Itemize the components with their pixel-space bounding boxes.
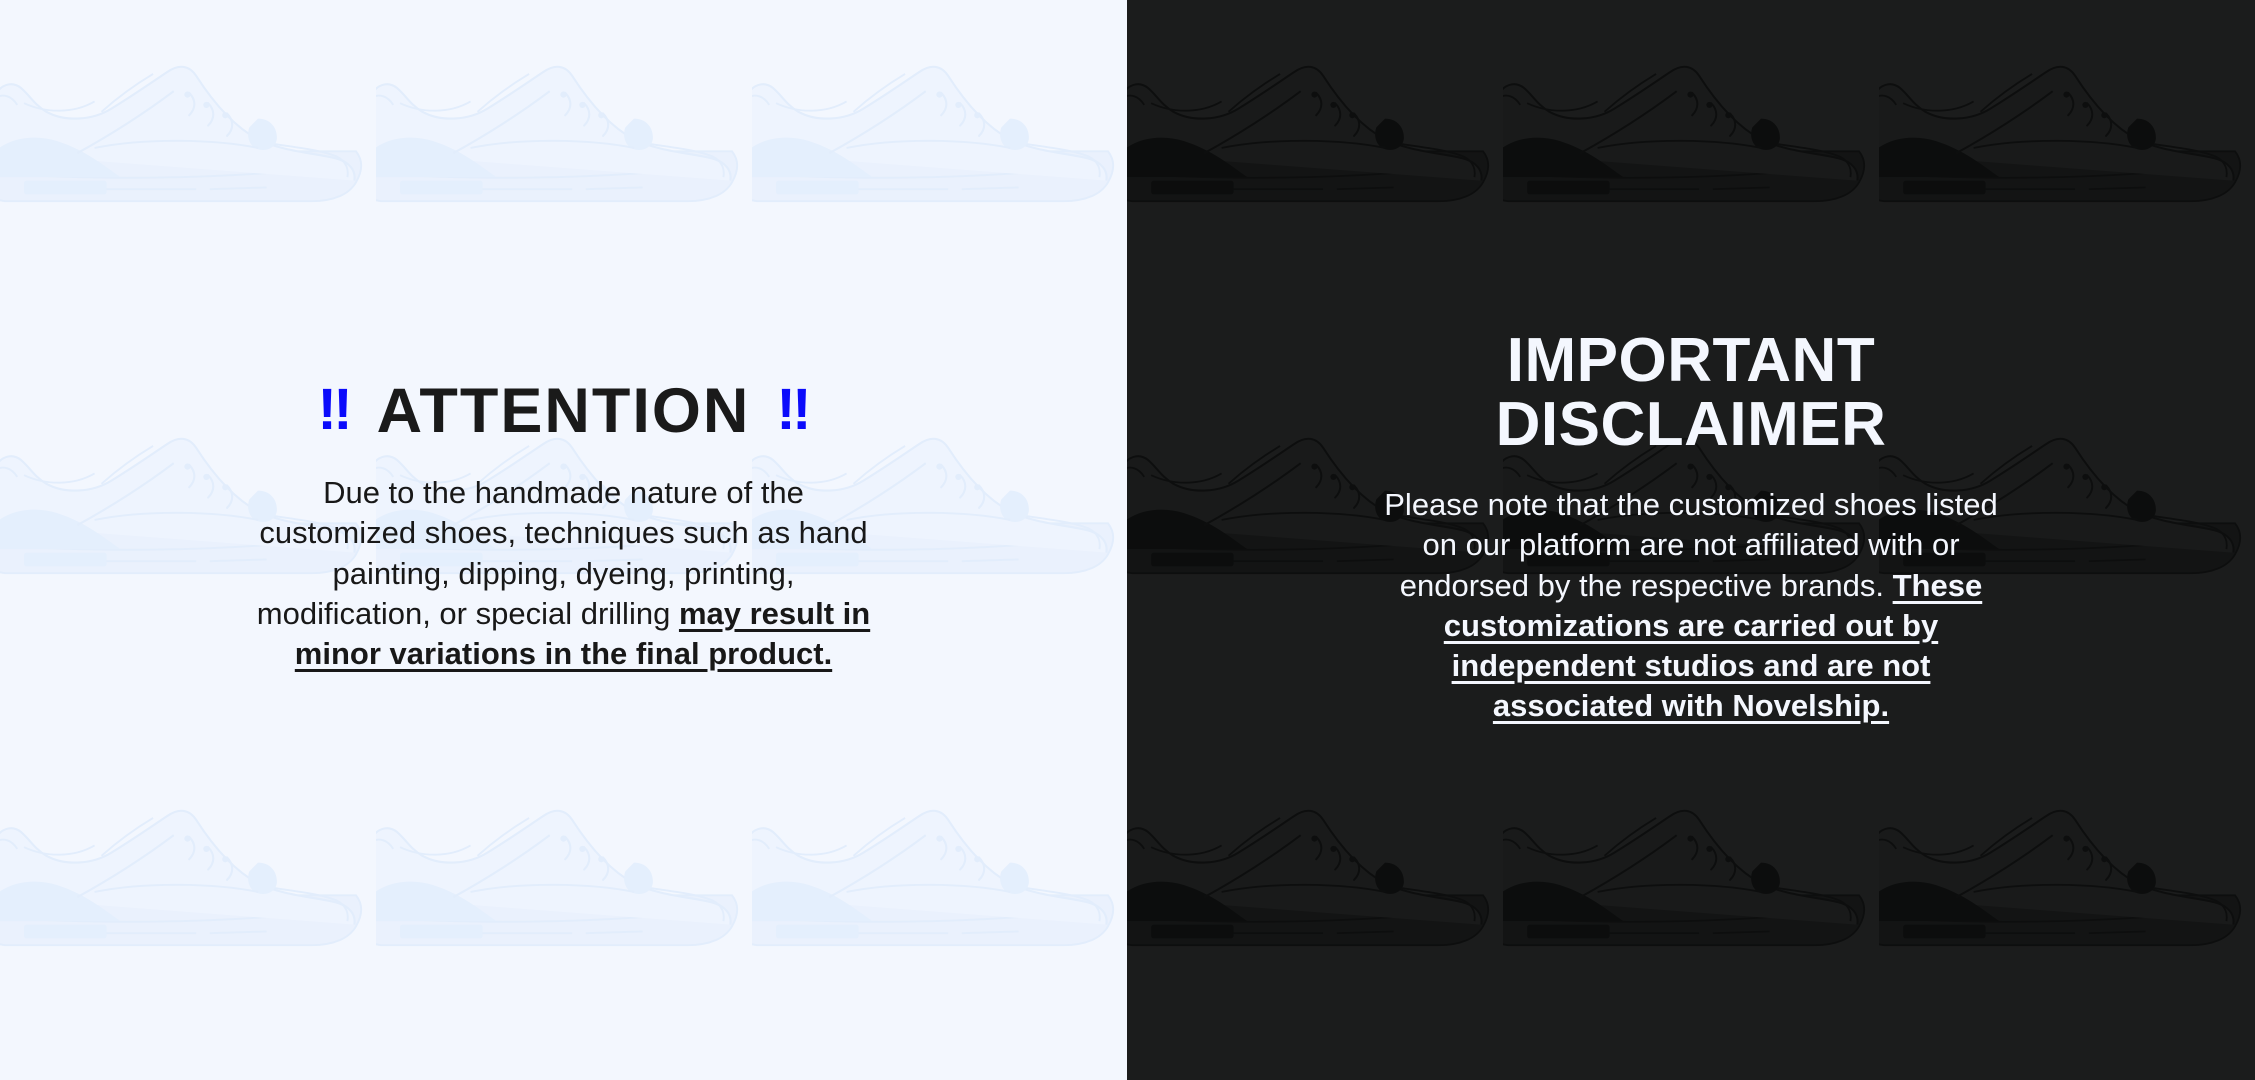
disclaimer-heading-line1: IMPORTANT — [1167, 329, 2215, 393]
disclaimer-body: Please note that the customized shoes li… — [1371, 485, 2011, 727]
attention-heading: ‼ ATTENTION ‼ — [40, 381, 1087, 443]
disclaimer-heading: IMPORTANT DISCLAIMER — [1167, 329, 2215, 457]
attention-heading-text: ATTENTION — [377, 381, 751, 443]
double-exclamation-icon-left: ‼ — [318, 381, 351, 439]
disclaimer-panel: IMPORTANT DISCLAIMER Please note that th… — [1127, 0, 2255, 1080]
double-exclamation-icon-right: ‼ — [776, 381, 809, 439]
disclaimer-heading-line2: DISCLAIMER — [1167, 393, 2215, 457]
attention-body: Due to the handmade nature of the custom… — [254, 473, 874, 674]
disclaimer-banner: ‼ ATTENTION ‼ Due to the handmade nature… — [0, 0, 2255, 1080]
disclaimer-content: IMPORTANT DISCLAIMER Please note that th… — [1127, 329, 2255, 727]
attention-panel: ‼ ATTENTION ‼ Due to the handmade nature… — [0, 0, 1127, 1080]
attention-content: ‼ ATTENTION ‼ Due to the handmade nature… — [0, 381, 1127, 674]
